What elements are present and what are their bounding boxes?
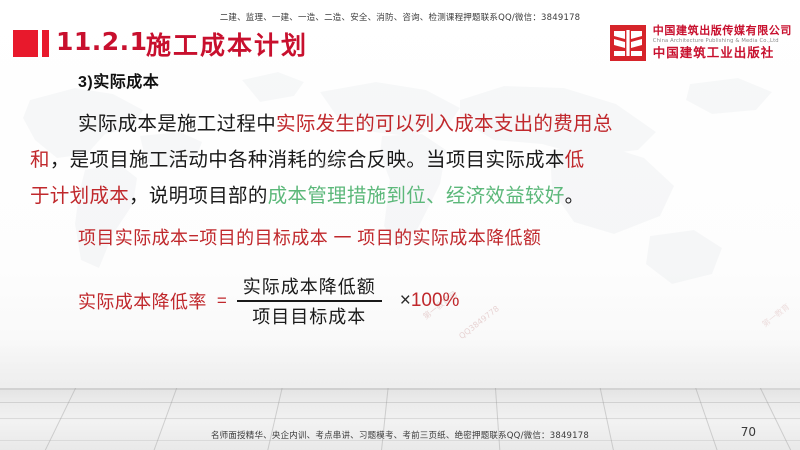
fraction-multiplier: ×100% — [400, 290, 460, 312]
multiply-sign-icon: × — [400, 290, 411, 311]
multiplier-value: 100% — [411, 290, 460, 311]
slide: 二建、监理、一建、一造、二造、安全、消防、咨询、检测课程押题联系QQ/微信：38… — [0, 0, 800, 450]
open-book-building-icon — [610, 25, 646, 61]
fraction-formula: 实际成本降低率 = 实际成本降低额 项目目标成本 ×100% — [0, 272, 800, 330]
line2-seg2: ，是项目施工活动中各种消耗的综合反映。当项目实际成本 — [50, 149, 565, 171]
line3-seg3: 成本管理措施到位、经济效益较好 — [268, 185, 565, 207]
fraction: 实际成本降低额 项目目标成本 — [237, 272, 382, 330]
slide-content: 3)实际成本 实际成本是施工过程中实际发生的可以列入成本支出的费用总 和，是项目… — [0, 68, 800, 330]
red-block-large-icon — [13, 30, 38, 57]
line3-seg4: 。 — [565, 185, 585, 207]
line1-seg2: 实际发生的可以列入成本支出的费用总 — [276, 113, 613, 135]
paragraph-line-1: 实际成本是施工过程中实际发生的可以列入成本支出的费用总 — [0, 106, 800, 142]
page-number: 70 — [741, 425, 756, 439]
red-block-small-icon — [42, 30, 49, 57]
footer-text: 名师面授精华、央企内训、考点串讲、习题模考、考前三页纸、绝密押题联系QQ/微信：… — [0, 429, 800, 441]
formula-line: 项目实际成本=项目的目标成本 一 项目的实际成本降低额 — [0, 224, 800, 250]
fraction-denominator: 项目目标成本 — [246, 302, 372, 330]
line1-seg1: 实际成本是施工过程中 — [78, 113, 276, 135]
fraction-numerator: 实际成本降低额 — [237, 272, 382, 300]
line2-seg1: 和 — [30, 149, 50, 171]
publisher-logo: 中国建筑出版传媒有限公司 China Architecture Publishi… — [610, 23, 792, 63]
paragraph-line-3: 于计划成本，说明项目部的成本管理措施到位、经济效益较好。 — [0, 178, 800, 214]
content-heading: 3)实际成本 — [78, 68, 800, 92]
paragraph-line-2: 和，是项目施工活动中各种消耗的综合反映。当项目实际成本低 — [0, 142, 800, 178]
logo-company-cn: 中国建筑出版传媒有限公司 — [653, 26, 792, 37]
fraction-lhs: 实际成本降低率 — [78, 288, 207, 314]
logo-company-en: China Architecture Publishing & Media Co… — [653, 39, 792, 44]
equals-sign: = — [217, 291, 227, 311]
logo-press-cn: 中国建筑工业出版社 — [653, 47, 792, 60]
line2-seg3: 低 — [565, 149, 585, 171]
top-banner-text: 二建、监理、一建、一造、二造、安全、消防、咨询、检测课程押题联系QQ/微信：38… — [0, 11, 800, 23]
line3-seg2: ，说明项目部的 — [129, 185, 268, 207]
line3-seg1: 于计划成本 — [30, 185, 129, 207]
page-title: 施工成本计划 — [146, 26, 308, 62]
section-number: 11.2.1 — [56, 27, 148, 56]
body-paragraph: 实际成本是施工过程中实际发生的可以列入成本支出的费用总 和，是项目施工活动中各种… — [0, 106, 800, 214]
floor-glow — [0, 340, 800, 392]
